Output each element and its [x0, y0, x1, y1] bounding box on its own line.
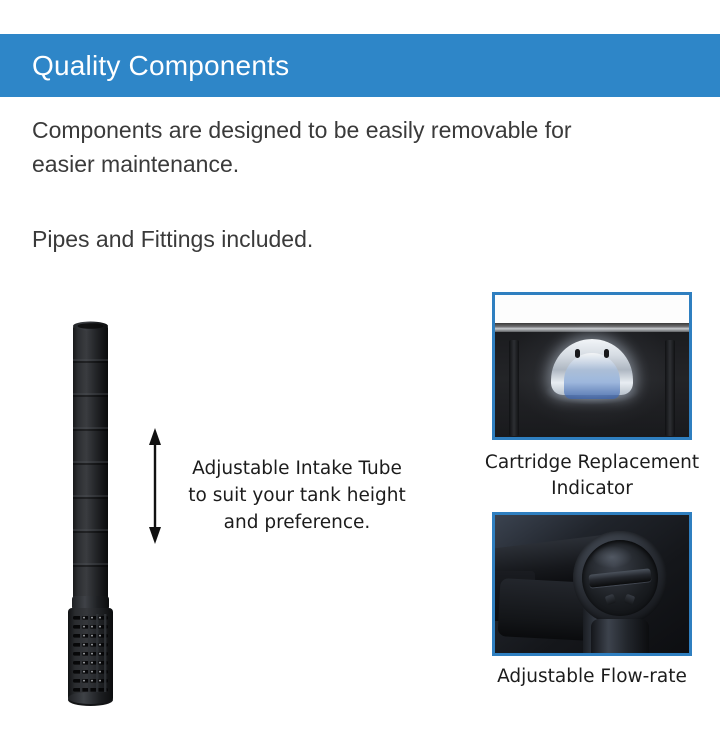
cartridge-replacement-indicator-photo — [492, 292, 692, 440]
double-headed-vertical-arrow — [146, 428, 164, 544]
flow-rate-dial-mark-left — [605, 594, 617, 606]
indicator-dot-right — [604, 349, 609, 358]
cartridge-replacement-indicator-caption: Cartridge Replacement Indicator — [472, 450, 712, 502]
adjustable-flow-rate-photo — [492, 512, 692, 656]
flow-rate-dial-highlight — [592, 546, 632, 568]
intake-tube-caption-line-3: and preference. — [172, 509, 422, 536]
flow-rate-caption-line-1: Adjustable Flow-rate — [472, 664, 712, 690]
indicator-dot-left — [575, 349, 580, 358]
flow-rate-dial-housing — [573, 531, 667, 625]
cartridge-caption-line-1: Cartridge Replacement — [472, 450, 712, 476]
cartridge-caption-line-2: Indicator — [472, 476, 712, 502]
flow-rate-dial-slot — [588, 568, 651, 587]
header-banner: Quality Components — [0, 34, 720, 97]
flow-rate-dial-mark-right — [624, 594, 636, 606]
housing-rib-right — [665, 340, 675, 436]
housing-edge — [495, 323, 689, 332]
product-feature-page: Quality Components Components are design… — [0, 0, 720, 742]
photo-top-white-strip — [495, 295, 689, 325]
intro-paragraph-1: Components are designed to be easily rem… — [32, 113, 632, 181]
housing-rib-left — [509, 340, 519, 436]
page-title: Quality Components — [32, 50, 289, 82]
indicator-dome-inner — [564, 353, 620, 399]
flow-rate-dial — [582, 540, 658, 616]
intro-paragraph-2: Pipes and Fittings included. — [32, 222, 632, 256]
pump-outlet-body — [591, 619, 649, 656]
intake-tube-caption-line-1: Adjustable Intake Tube — [172, 455, 422, 482]
arrow-icon — [146, 428, 164, 544]
intake-tube-caption-line-2: to suit your tank height — [172, 482, 422, 509]
adjustable-flow-rate-caption: Adjustable Flow-rate — [472, 664, 712, 690]
intake-tube-svg — [60, 316, 130, 708]
intake-tube-caption: Adjustable Intake Tube to suit your tank… — [172, 455, 422, 536]
intake-tube-image — [60, 316, 130, 708]
